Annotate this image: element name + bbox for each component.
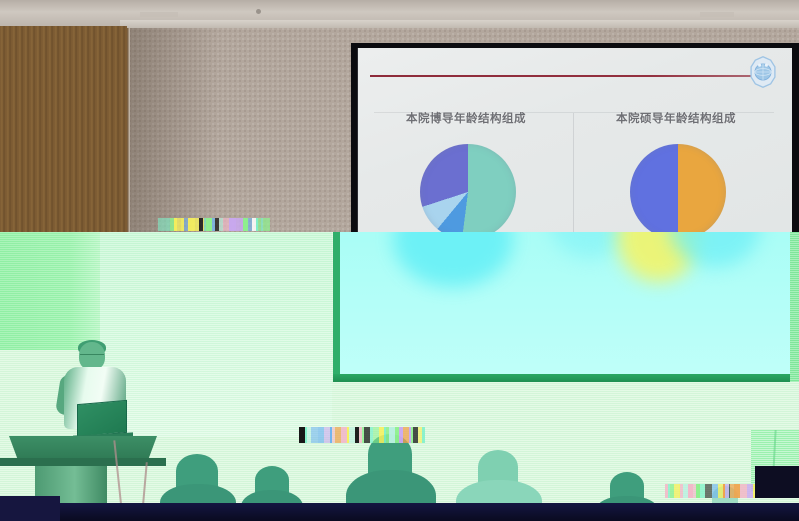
pie-left-slices [420, 144, 516, 233]
frame-bottom-left-bar [0, 496, 60, 521]
laptop-screen [77, 400, 127, 437]
corrupted-video-field [0, 232, 799, 521]
ceiling-fixture-icon [256, 9, 261, 14]
ceiling-vent [140, 12, 178, 17]
presentation-slide: 本院博导年龄结构组成 本院硕导年龄结构组成 [358, 48, 792, 233]
pie-chart-left [420, 144, 516, 233]
frame-corner-dark [755, 466, 799, 498]
pie-chart-right [630, 144, 726, 233]
ceiling-vent [700, 12, 734, 17]
slide-accent-rule [370, 75, 770, 77]
frame-bottom-bar [0, 503, 799, 521]
screen-surface-tinted [340, 232, 792, 374]
wall-shadow [130, 28, 220, 233]
podium-top [9, 436, 157, 460]
video-glitch-band [158, 218, 270, 231]
audience-head [176, 454, 218, 488]
video-frame: 本院博导年龄结构组成 本院硕导年龄结构组成 [0, 0, 799, 521]
screen-bottom-edge [333, 374, 799, 382]
podium-shelf [0, 458, 166, 466]
video-glitch-band [665, 484, 765, 498]
university-emblem-icon [746, 55, 780, 89]
screen-right-edge [790, 232, 799, 382]
chart-title-left: 本院博导年龄结构组成 [406, 110, 526, 126]
pie-ghost-cyan [393, 232, 513, 287]
audience-head [478, 450, 518, 484]
glasses-icon [80, 354, 104, 358]
slide-panel-divider [573, 113, 574, 233]
chart-title-right: 本院硕导年龄结构组成 [616, 110, 736, 126]
pie-right-slices [630, 144, 726, 233]
presenter [55, 342, 135, 502]
wood-wall-panel [0, 26, 127, 233]
video-glitch-band [299, 427, 425, 443]
